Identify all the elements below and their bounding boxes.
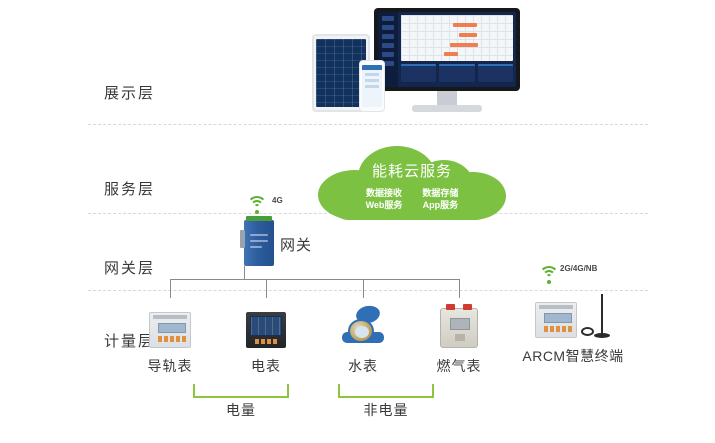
antenna-icon — [581, 294, 611, 338]
meter-label-gas: 燃气表 — [414, 356, 504, 376]
cloud-service-data-receive: 数据接收 — [366, 187, 403, 199]
connector-drop — [363, 279, 364, 298]
meter-water: 水表 — [318, 300, 408, 376]
arcm-device-icon — [535, 290, 577, 338]
wifi-icon — [538, 266, 560, 284]
bracket-electric-group — [193, 384, 289, 398]
connector-drop — [266, 279, 267, 298]
dashboard-cards — [401, 64, 513, 82]
cloud-title: 能耗云服务 — [318, 160, 506, 181]
wifi-icon — [246, 196, 268, 214]
meter-electric: 电表 — [221, 300, 311, 376]
gateway-network-tag: 4G — [272, 196, 283, 205]
monitor-neck — [437, 91, 457, 105]
din-rail-meter-icon — [125, 300, 215, 348]
electric-meter-icon — [221, 300, 311, 348]
cloud-service-item: 数据接收 Web服务 — [366, 187, 403, 211]
monitor-bezel — [374, 8, 520, 91]
gas-meter-icon — [414, 300, 504, 348]
gateway-meter-connector — [170, 266, 460, 298]
connector-bar — [170, 279, 460, 280]
meter-label-water: 水表 — [318, 356, 408, 376]
display-layer-devices — [306, 8, 521, 116]
dashboard-map — [401, 15, 513, 61]
arcm-terminal-label: ARCM智慧终端 — [498, 346, 648, 366]
bracket-label-electric: 电量 — [193, 400, 289, 420]
smartphone-screen — [362, 65, 382, 107]
layer-label-display: 展示层 — [104, 82, 190, 103]
layer-label-service: 服务层 — [104, 178, 190, 199]
connector-drop — [170, 279, 171, 298]
dashboard-body — [398, 12, 516, 87]
cloud-service-item: 数据存储 App服务 — [422, 187, 458, 211]
meter-gas: 燃气表 — [414, 300, 504, 376]
cloud-text-block: 能耗云服务 数据接收 Web服务 数据存储 App服务 — [318, 144, 506, 220]
cloud-service-columns: 数据接收 Web服务 数据存储 App服务 — [318, 187, 506, 211]
bracket-label-non-electric: 非电量 — [338, 400, 434, 420]
cloud-service-web: Web服务 — [366, 199, 403, 211]
cloud-service-app: App服务 — [422, 199, 458, 211]
desktop-monitor-device — [374, 8, 520, 116]
connector-drop — [459, 279, 460, 298]
divider-display-service — [88, 124, 648, 125]
cloud-service-data-storage: 数据存储 — [422, 187, 458, 199]
monitor-base — [412, 105, 482, 112]
architecture-diagram: 展示层 服务层 网关层 计量层 — [0, 0, 715, 443]
connector-stem — [244, 266, 245, 279]
gateway-device-icon — [244, 220, 274, 266]
water-meter-icon — [318, 300, 408, 348]
meter-label-electric: 电表 — [221, 356, 311, 376]
meter-din-rail: 导轨表 — [125, 300, 215, 376]
gateway-label: 网关 — [280, 234, 312, 255]
smartphone-device — [359, 60, 385, 112]
terminal-network-tag: 2G/4G/NB — [560, 264, 597, 273]
cloud-service: 能耗云服务 数据接收 Web服务 数据存储 App服务 — [318, 144, 506, 220]
arcm-terminal-node: 2G/4G/NB ARCM智慧终端 — [498, 266, 648, 366]
monitor-screen — [378, 12, 516, 87]
arcm-terminal-icons — [498, 290, 648, 338]
meter-label-din-rail: 导轨表 — [125, 356, 215, 376]
bracket-non-electric-group — [338, 384, 434, 398]
